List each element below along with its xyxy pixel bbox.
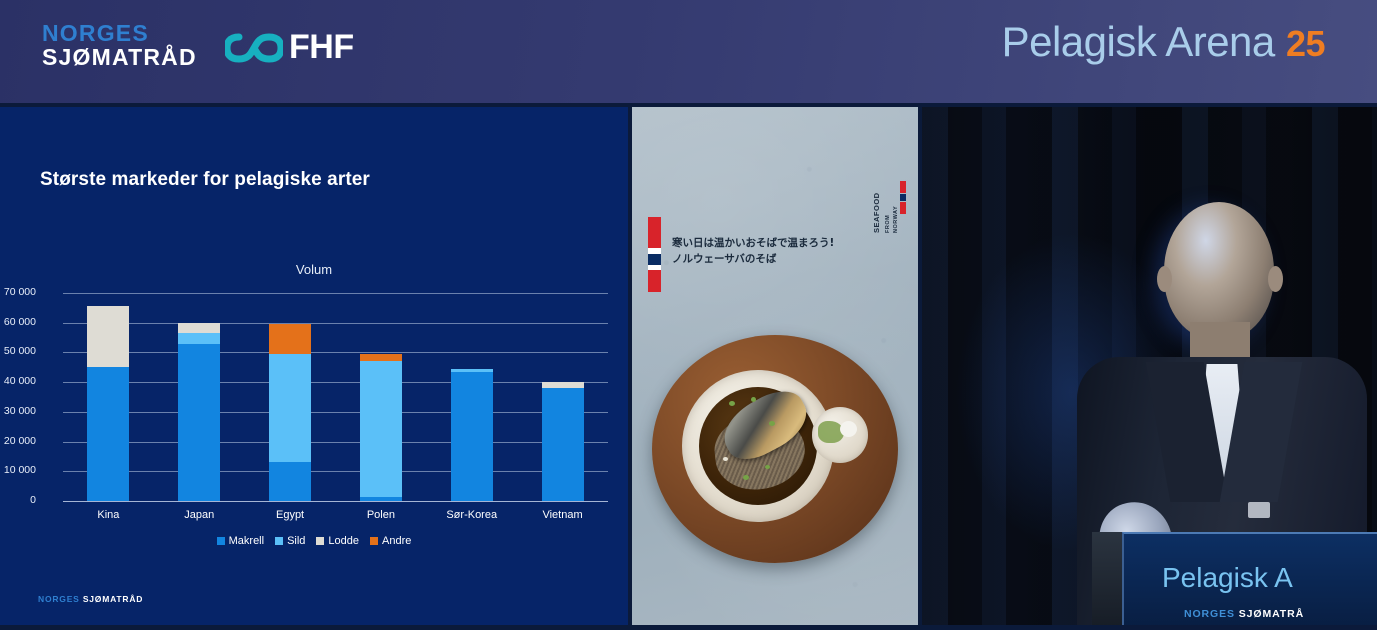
speaker-name-badge	[1248, 502, 1270, 518]
fhf-wordmark: FHF	[289, 28, 354, 67]
chart-bar-segment[interactable]	[269, 354, 311, 462]
chart-heading: Største markeder for pelagiske arter	[40, 169, 370, 191]
chart-x-tick-label: Sør-Korea	[427, 509, 517, 521]
chart-y-tick-label: 50 000	[0, 345, 36, 357]
chart-legend-swatch	[370, 537, 378, 545]
chart-x-tick-label: Japan	[154, 509, 244, 521]
chart-legend: MakrellSildLoddeAndre	[0, 535, 628, 547]
fhf-infinity-icon	[225, 31, 283, 65]
chart-y-tick-label: 10 000	[0, 464, 36, 476]
chart-bar-segment[interactable]	[178, 333, 220, 343]
chart-bar-column[interactable]	[336, 293, 426, 501]
chart-x-tick-label: Kina	[63, 509, 153, 521]
podium-screen: Pelagisk A NORGES SJØMATRÅ	[1122, 532, 1377, 626]
chart-footer-norges: NORGES	[38, 594, 80, 604]
panels-row: Største markeder for pelagiske arter Vol…	[0, 103, 1377, 630]
chart-bar-segment[interactable]	[451, 372, 493, 501]
chart-legend-label: Sild	[287, 535, 305, 547]
logo-line-norges: NORGES	[42, 22, 197, 45]
chart-legend-swatch	[316, 537, 324, 545]
grated-radish	[840, 421, 857, 437]
svg-text:FROM: FROM	[885, 215, 891, 233]
japanese-headline: 寒い日は温かいおそばで温まろう! ノルウェーサバのそば	[672, 235, 892, 268]
header-bar: NORGES SJØMATRÅD FHF Pelagisk Arena 25	[0, 0, 1377, 103]
speaker-ear-left	[1157, 266, 1172, 292]
japanese-headline-line1: 寒い日は温かいおそばで温まろう!	[672, 235, 892, 251]
chart-bars	[63, 293, 608, 501]
bottom-edge	[0, 625, 1377, 630]
food-photograph	[640, 325, 910, 575]
speaker-head	[1164, 202, 1274, 340]
chart-bar-segment[interactable]	[542, 388, 584, 501]
japanese-headline-line2: ノルウェーサバのそば	[672, 251, 892, 267]
chart-bar-segment[interactable]	[178, 323, 220, 333]
food-photo-panel: SEAFOOD FROM NORWAY 寒い日は温かいおそばで温まろう! ノルウ…	[632, 107, 918, 626]
page-title-year: 25	[1286, 23, 1325, 64]
chart-y-tick-label: 30 000	[0, 405, 36, 417]
chart-y-tick-label: 20 000	[0, 435, 36, 447]
chart-stacked-bar[interactable]	[178, 323, 220, 501]
presentation-screenshot: NORGES SJØMATRÅD FHF Pelagisk Arena 25 S…	[0, 0, 1377, 630]
chart-bar-segment[interactable]	[269, 324, 311, 354]
chart-bar-segment[interactable]	[360, 497, 402, 501]
chart-bar-segment[interactable]	[87, 367, 129, 501]
podium-screen-logo: NORGES SJØMATRÅ	[1184, 608, 1304, 620]
chart-y-tick-label: 40 000	[0, 375, 36, 387]
podium-logo-sjomatrad: SJØMATRÅ	[1239, 608, 1304, 620]
chart-bar-segment[interactable]	[269, 462, 311, 501]
chart-bar-column[interactable]	[427, 293, 517, 501]
chart-legend-item[interactable]: Lodde	[316, 535, 359, 547]
chart-stacked-bar[interactable]	[451, 369, 493, 501]
logo-line-sjomatrad: SJØMATRÅD	[42, 46, 197, 69]
svg-text:NORWAY: NORWAY	[893, 206, 899, 233]
seafood-from-norway-logo-icon: SEAFOOD FROM NORWAY	[865, 179, 909, 235]
norwegian-flag-bar-icon	[648, 217, 661, 292]
chart-bar-segment[interactable]	[87, 306, 129, 367]
chart-bar-segment[interactable]	[178, 344, 220, 501]
chart-x-tick-label: Polen	[336, 509, 426, 521]
fhf-logo: FHF	[225, 28, 354, 67]
podium-side-panel	[1092, 532, 1122, 626]
norges-sjomatrad-logo: NORGES SJØMATRÅD	[42, 22, 197, 69]
chart-legend-label: Andre	[382, 535, 411, 547]
chart-legend-item[interactable]: Andre	[370, 535, 411, 547]
chart-stacked-bar[interactable]	[269, 324, 311, 501]
chart-bar-column[interactable]	[518, 293, 608, 501]
chart-legend-label: Lodde	[328, 535, 359, 547]
chart-x-axis-labels: KinaJapanEgyptPolenSør-KoreaVietnam	[63, 509, 608, 521]
chart-bar-segment[interactable]	[360, 354, 402, 361]
chart-bar-column[interactable]	[154, 293, 244, 501]
chart-y-tick-label: 70 000	[0, 286, 36, 298]
chart-x-tick-label: Vietnam	[518, 509, 608, 521]
chart-legend-item[interactable]: Sild	[275, 535, 305, 547]
chart-bar-column[interactable]	[245, 293, 335, 501]
podium-logo-norges: NORGES	[1184, 608, 1235, 620]
chart-legend-item[interactable]: Makrell	[217, 535, 264, 547]
chart-legend-swatch	[217, 537, 225, 545]
page-title: Pelagisk Arena 25	[1002, 18, 1325, 66]
chart-y-tick-label: 0	[0, 494, 36, 506]
chart-x-tick-label: Egypt	[245, 509, 335, 521]
broth	[699, 387, 817, 505]
side-dish-bowl	[812, 407, 868, 463]
chart-stacked-bar[interactable]	[542, 382, 584, 501]
chart-gridline	[63, 501, 608, 502]
chart-footer-logo: NORGES SJØMATRÅD	[38, 594, 143, 604]
page-title-main: Pelagisk Arena	[1002, 18, 1275, 65]
chart-legend-label: Makrell	[229, 535, 264, 547]
chart-legend-swatch	[275, 537, 283, 545]
podium-screen-title: Pelagisk A	[1162, 562, 1293, 594]
chart-footer-sjomatrad: SJØMATRÅD	[83, 594, 143, 604]
chart-stacked-bar[interactable]	[360, 354, 402, 501]
chart-title-volum: Volum	[0, 262, 628, 277]
chart-bar-segment[interactable]	[360, 361, 402, 496]
chart-stacked-bar[interactable]	[87, 306, 129, 501]
chart-y-tick-label: 60 000	[0, 316, 36, 328]
speaker-ear-right	[1268, 266, 1283, 292]
wooden-tray	[652, 335, 898, 563]
speaker-video-panel: Pelagisk A NORGES SJØMATRÅ	[922, 107, 1377, 626]
chart-bar-column[interactable]	[63, 293, 153, 501]
chart-panel: Største markeder for pelagiske arter Vol…	[0, 107, 628, 626]
svg-text:SEAFOOD: SEAFOOD	[872, 192, 881, 233]
noodle-bowl	[682, 370, 834, 522]
